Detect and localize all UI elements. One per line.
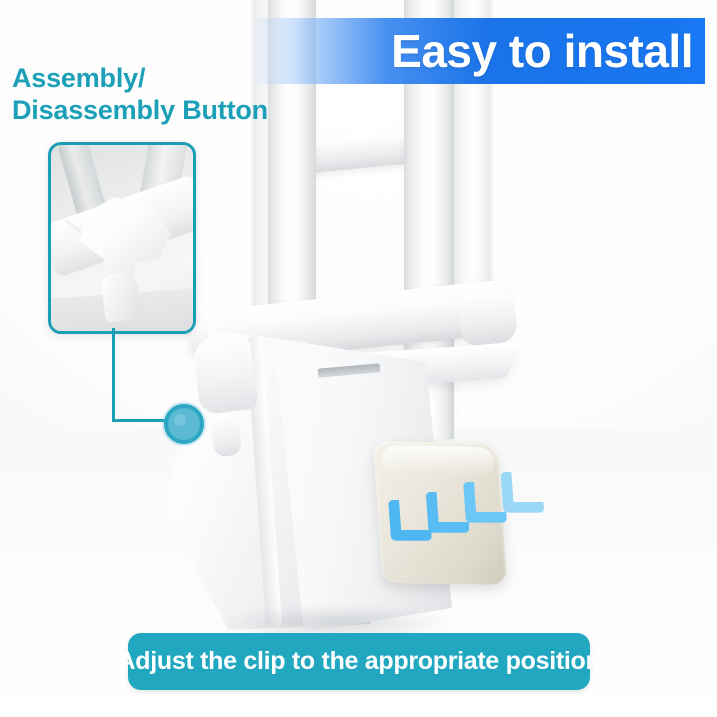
caption-text: Adjust the clip to the appropriate posit… xyxy=(118,647,601,676)
callout-label: Assembly/ Disassembly Button xyxy=(12,62,342,126)
clamp-top-bar-end-cap xyxy=(457,289,518,347)
callout-label-line2: Disassembly Button xyxy=(12,94,342,126)
chevron-left-icon xyxy=(463,482,507,523)
caption-bar: Adjust the clip to the appropriate posit… xyxy=(128,633,590,690)
chevron-left-icon xyxy=(388,500,432,541)
infographic-canvas: Easy to install Assembly/ Disassembly Bu… xyxy=(0,0,717,717)
callout-label-line1: Assembly/ xyxy=(12,63,145,93)
callout-target-dot xyxy=(164,404,204,444)
chevron-left-icon xyxy=(426,492,470,533)
chevron-left-icon xyxy=(500,472,544,513)
headline-text: Easy to install xyxy=(391,24,693,78)
callout-inset-box xyxy=(48,142,196,334)
clamp-pad-highlight xyxy=(381,445,496,477)
callout-target-dot-core xyxy=(174,414,186,426)
clamp-hinge xyxy=(192,333,259,416)
assembly-button-stem xyxy=(100,271,142,323)
callout-leader-line-vertical xyxy=(112,328,115,422)
